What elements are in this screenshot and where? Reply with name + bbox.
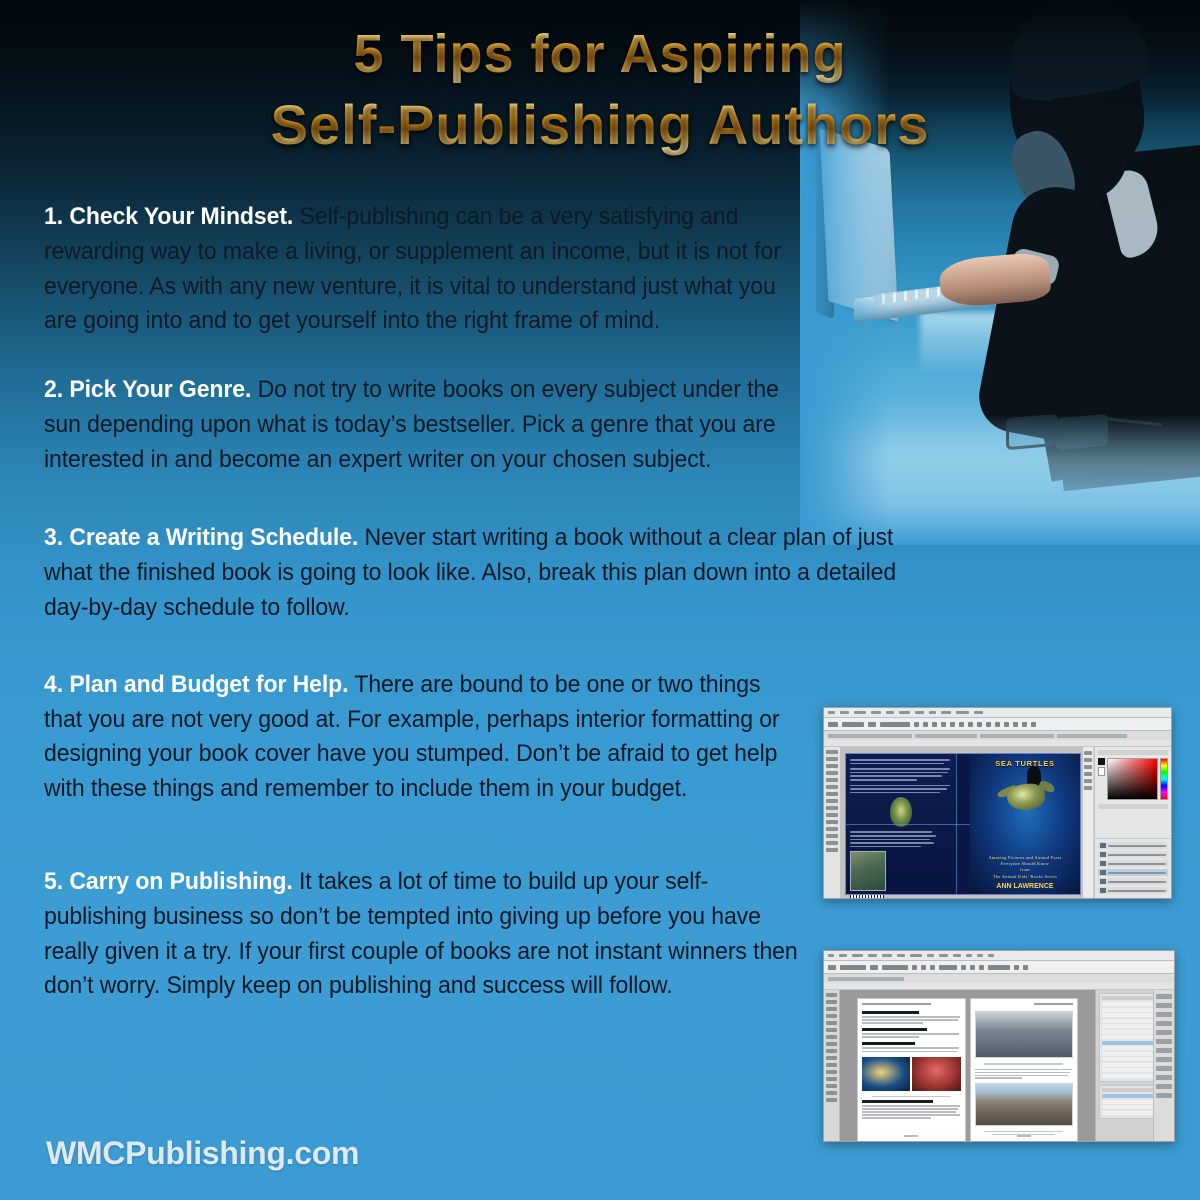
cover-title: SEA TURTLES (995, 759, 1055, 768)
editor-ruler (824, 740, 1171, 747)
screenshot-image-editor: SEA TURTLES Amazing Pictures and Animal … (823, 707, 1172, 899)
barcode (850, 895, 884, 899)
cover-subtitle-4: The Animal Kids’ Books Series (988, 874, 1061, 880)
author-photo (850, 851, 886, 891)
crab-photo (912, 1057, 960, 1091)
layer-row (1098, 887, 1168, 894)
screenshot-page-layout-app (823, 950, 1175, 1142)
tip-4-lead: 4. Plan and Budget for Help. (44, 671, 348, 698)
footer-website[interactable]: WMCPublishing.com (46, 1135, 359, 1172)
editor-document-tabs[interactable] (824, 731, 1171, 740)
editor-canvas[interactable]: SEA TURTLES Amazing Pictures and Animal … (841, 747, 1083, 899)
layers-panel[interactable] (1095, 838, 1171, 899)
cover-subtitle-1: Amazing Pictures and Animal Facts (988, 855, 1061, 861)
layer-row (1098, 860, 1168, 867)
cover-turtle-illustration (997, 780, 1053, 814)
layer-row-selected (1098, 869, 1168, 876)
layout-page-spread[interactable] (840, 990, 1095, 1142)
tip-3-lead: 3. Create a Writing Schedule. (44, 524, 358, 551)
layout-ruler (824, 983, 1174, 990)
sea-turtle-photo (975, 1011, 1074, 1059)
layout-workspace (824, 990, 1174, 1142)
tip-5-lead: 5. Carry on Publishing. (44, 868, 293, 895)
page-title: 5 Tips for Aspiring Self-Publishing Auth… (0, 20, 1200, 161)
tip-1-lead: 1. Check Your Mindset. (44, 203, 293, 230)
tip-item-1: 1. Check Your Mindset. Self-publishing c… (44, 200, 844, 339)
title-line-1: 5 Tips for Aspiring (0, 20, 1200, 89)
book-cover-artwork: SEA TURTLES Amazing Pictures and Animal … (845, 753, 1081, 895)
editor-workspace: SEA TURTLES Amazing Pictures and Animal … (824, 747, 1171, 899)
color-swatches[interactable] (1098, 758, 1105, 800)
cover-author: ANN LAWRENCE (988, 883, 1061, 890)
tip-item-2: 2. Pick Your Genre. Do not try to write … (44, 373, 834, 477)
layout-control-bar[interactable] (824, 961, 1174, 974)
editor-toolbox[interactable] (824, 747, 841, 899)
layout-menubar (824, 951, 1174, 961)
editor-options-bar[interactable] (824, 718, 1171, 731)
saturation-value-field[interactable] (1107, 758, 1158, 800)
color-picker-icon[interactable] (1098, 758, 1168, 800)
layer-row (1098, 842, 1168, 849)
turtle-nesting-beach-photo (975, 1083, 1074, 1125)
tips-list: 1. Check Your Mindset. Self-publishing c… (44, 200, 964, 1038)
editor-menubar (824, 708, 1171, 718)
page-image-row (862, 1057, 961, 1091)
tip-item-4: 4. Plan and Budget for Help. There are b… (44, 668, 834, 807)
editor-panel-rail[interactable] (1083, 747, 1094, 899)
jellyfish-photo (862, 1057, 910, 1091)
layout-panel-rail[interactable] (1153, 990, 1174, 1142)
cover-subtitle-block: Amazing Pictures and Animal Facts Everyo… (988, 855, 1061, 895)
infographic-poster: 5 Tips for Aspiring Self-Publishing Auth… (0, 0, 1200, 1200)
layout-document-tabs[interactable] (824, 974, 1174, 983)
tip-2-lead: 2. Pick Your Genre. (44, 376, 251, 403)
book-front-cover: SEA TURTLES Amazing Pictures and Animal … (970, 754, 1080, 894)
tip-item-5: 5. Carry on Publishing. It takes a lot o… (44, 865, 854, 1004)
layer-row (1098, 851, 1168, 858)
tip-item-3: 3. Create a Writing Schedule. Never star… (44, 521, 964, 625)
layer-row (1098, 878, 1168, 885)
layout-page-left[interactable] (857, 998, 966, 1142)
back-cover-turtle-image (890, 797, 912, 827)
layout-toolbox[interactable] (824, 990, 840, 1142)
title-line-2: Self-Publishing Authors (0, 89, 1200, 161)
color-picker-panel[interactable] (1095, 747, 1171, 815)
editor-right-panels[interactable] (1094, 747, 1171, 899)
hue-slider[interactable] (1160, 758, 1168, 800)
layout-page-right[interactable] (970, 998, 1079, 1142)
